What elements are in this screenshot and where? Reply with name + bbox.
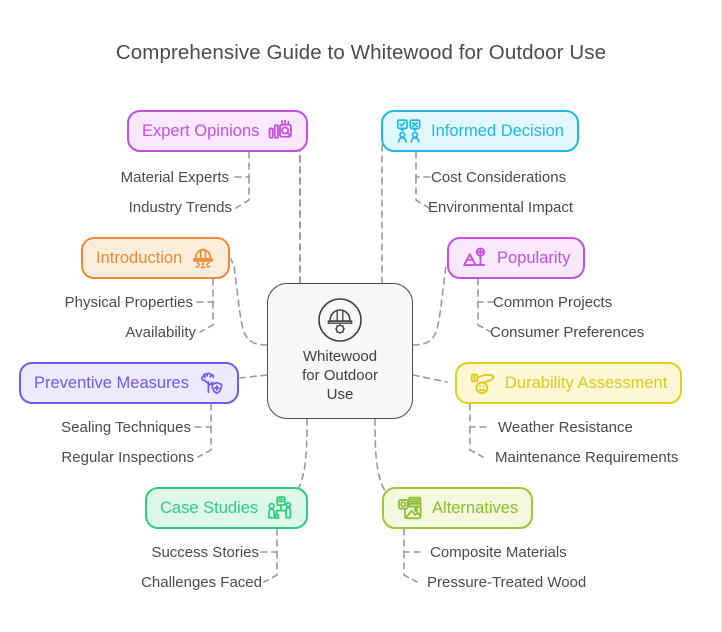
center-label-line3: Use [280, 385, 400, 404]
sub-item-common-projects[interactable]: Common Projects [493, 295, 612, 310]
edge-sub-alt-1 [404, 529, 420, 552]
branch-label-alternatives: Alternatives [432, 500, 518, 517]
branch-node-popularity[interactable]: Popularity [447, 237, 585, 279]
sub-item-regular-inspections[interactable]: Regular Inspections [61, 450, 194, 465]
edge-sub-prev-1 [195, 404, 211, 427]
sub-item-industry-trends[interactable]: Industry Trends [129, 200, 232, 215]
durability-gauge-icon [470, 370, 496, 396]
sub-item-maintenance-requirements[interactable]: Maintenance Requirements [495, 450, 678, 465]
alternatives-layers-icon [397, 495, 423, 521]
center-node[interactable]: Whitewood for Outdoor Use [267, 283, 413, 419]
edge-center-expert-opinions-2 [299, 133, 302, 283]
branch-node-preventive-measures[interactable]: Preventive Measures [19, 362, 239, 404]
branch-label-informed-decision: Informed Decision [431, 123, 564, 140]
branch-node-informed-decision[interactable]: Informed Decision [381, 110, 579, 152]
sub-item-weather-resistance[interactable]: Weather Resistance [498, 420, 633, 435]
edge-center-expert-hook [290, 133, 300, 283]
edge-center-popularity [413, 259, 449, 345]
popularity-chart-icon [462, 245, 488, 271]
edge-center-expert-opinions [297, 134, 300, 283]
sub-item-sealing-techniques[interactable]: Sealing Techniques [61, 420, 191, 435]
sub-item-cost-considerations[interactable]: Cost Considerations [431, 170, 566, 185]
branch-label-expert-opinions: Expert Opinions [142, 123, 259, 140]
branch-node-alternatives[interactable]: Alternatives [382, 487, 533, 529]
edge-sub-intro-2 [200, 302, 213, 332]
case-people-icon [267, 495, 293, 521]
branch-label-durability-assessment: Durability Assessment [505, 375, 667, 392]
branch-node-case-studies[interactable]: Case Studies [145, 487, 308, 529]
center-node-label: Whitewood for Outdoor Use [280, 347, 400, 404]
branch-label-introduction: Introduction [96, 250, 182, 267]
sub-item-pressure-treated-wood[interactable]: Pressure-Treated Wood [427, 575, 586, 590]
sub-item-composite-materials[interactable]: Composite Materials [430, 545, 567, 560]
edge-center-preventive-measures [240, 375, 267, 378]
branch-label-popularity: Popularity [497, 250, 570, 267]
decision-people-icon [396, 118, 422, 144]
branch-label-preventive-measures: Preventive Measures [34, 375, 189, 392]
hard-hat-gear-icon [316, 296, 364, 344]
edge-sub-alt-2 [404, 552, 417, 582]
sub-item-success-stories[interactable]: Success Stories [151, 545, 259, 560]
edge-sub-pop-1 [478, 279, 494, 302]
sub-item-challenges-faced[interactable]: Challenges Faced [141, 575, 262, 590]
hard-hat-icon [191, 246, 215, 270]
mindmap-canvas: Comprehensive Guide to Whitewood for Out… [0, 0, 722, 632]
edge-sub-expert-1 [233, 152, 249, 177]
chart-magnifier-icon [268, 119, 293, 144]
edge-sub-informed-1 [416, 152, 432, 177]
branch-label-case-studies: Case Studies [160, 500, 258, 517]
sub-item-availability[interactable]: Availability [125, 325, 196, 340]
edge-center-informed-decision [382, 133, 410, 283]
center-label-line2: for Outdoor [280, 366, 400, 385]
page-title: Comprehensive Guide to Whitewood for Out… [0, 41, 722, 65]
edge-center-durability-assessment [413, 375, 447, 382]
edge-sub-case-1 [261, 529, 277, 552]
sub-item-consumer-preferences[interactable]: Consumer Preferences [490, 325, 644, 340]
edge-sub-intro-1 [197, 279, 213, 302]
edge-sub-dur-1 [470, 404, 486, 427]
edge-sub-expert-2 [236, 177, 249, 208]
tree-shield-icon [198, 370, 224, 396]
sub-item-material-experts[interactable]: Material Experts [121, 170, 229, 185]
sub-item-environmental-impact[interactable]: Environmental Impact [428, 200, 573, 215]
branch-node-expert-opinions[interactable]: Expert Opinions [127, 110, 308, 152]
sub-item-physical-properties[interactable]: Physical Properties [65, 295, 193, 310]
branch-node-introduction[interactable]: Introduction [81, 237, 230, 279]
edge-center-introduction [231, 259, 267, 345]
edge-sub-case-2 [264, 552, 277, 582]
edge-sub-prev-2 [198, 427, 211, 457]
branch-node-durability-assessment[interactable]: Durability Assessment [455, 362, 682, 404]
center-label-line1: Whitewood [280, 347, 400, 366]
edge-sub-dur-2 [470, 427, 483, 457]
